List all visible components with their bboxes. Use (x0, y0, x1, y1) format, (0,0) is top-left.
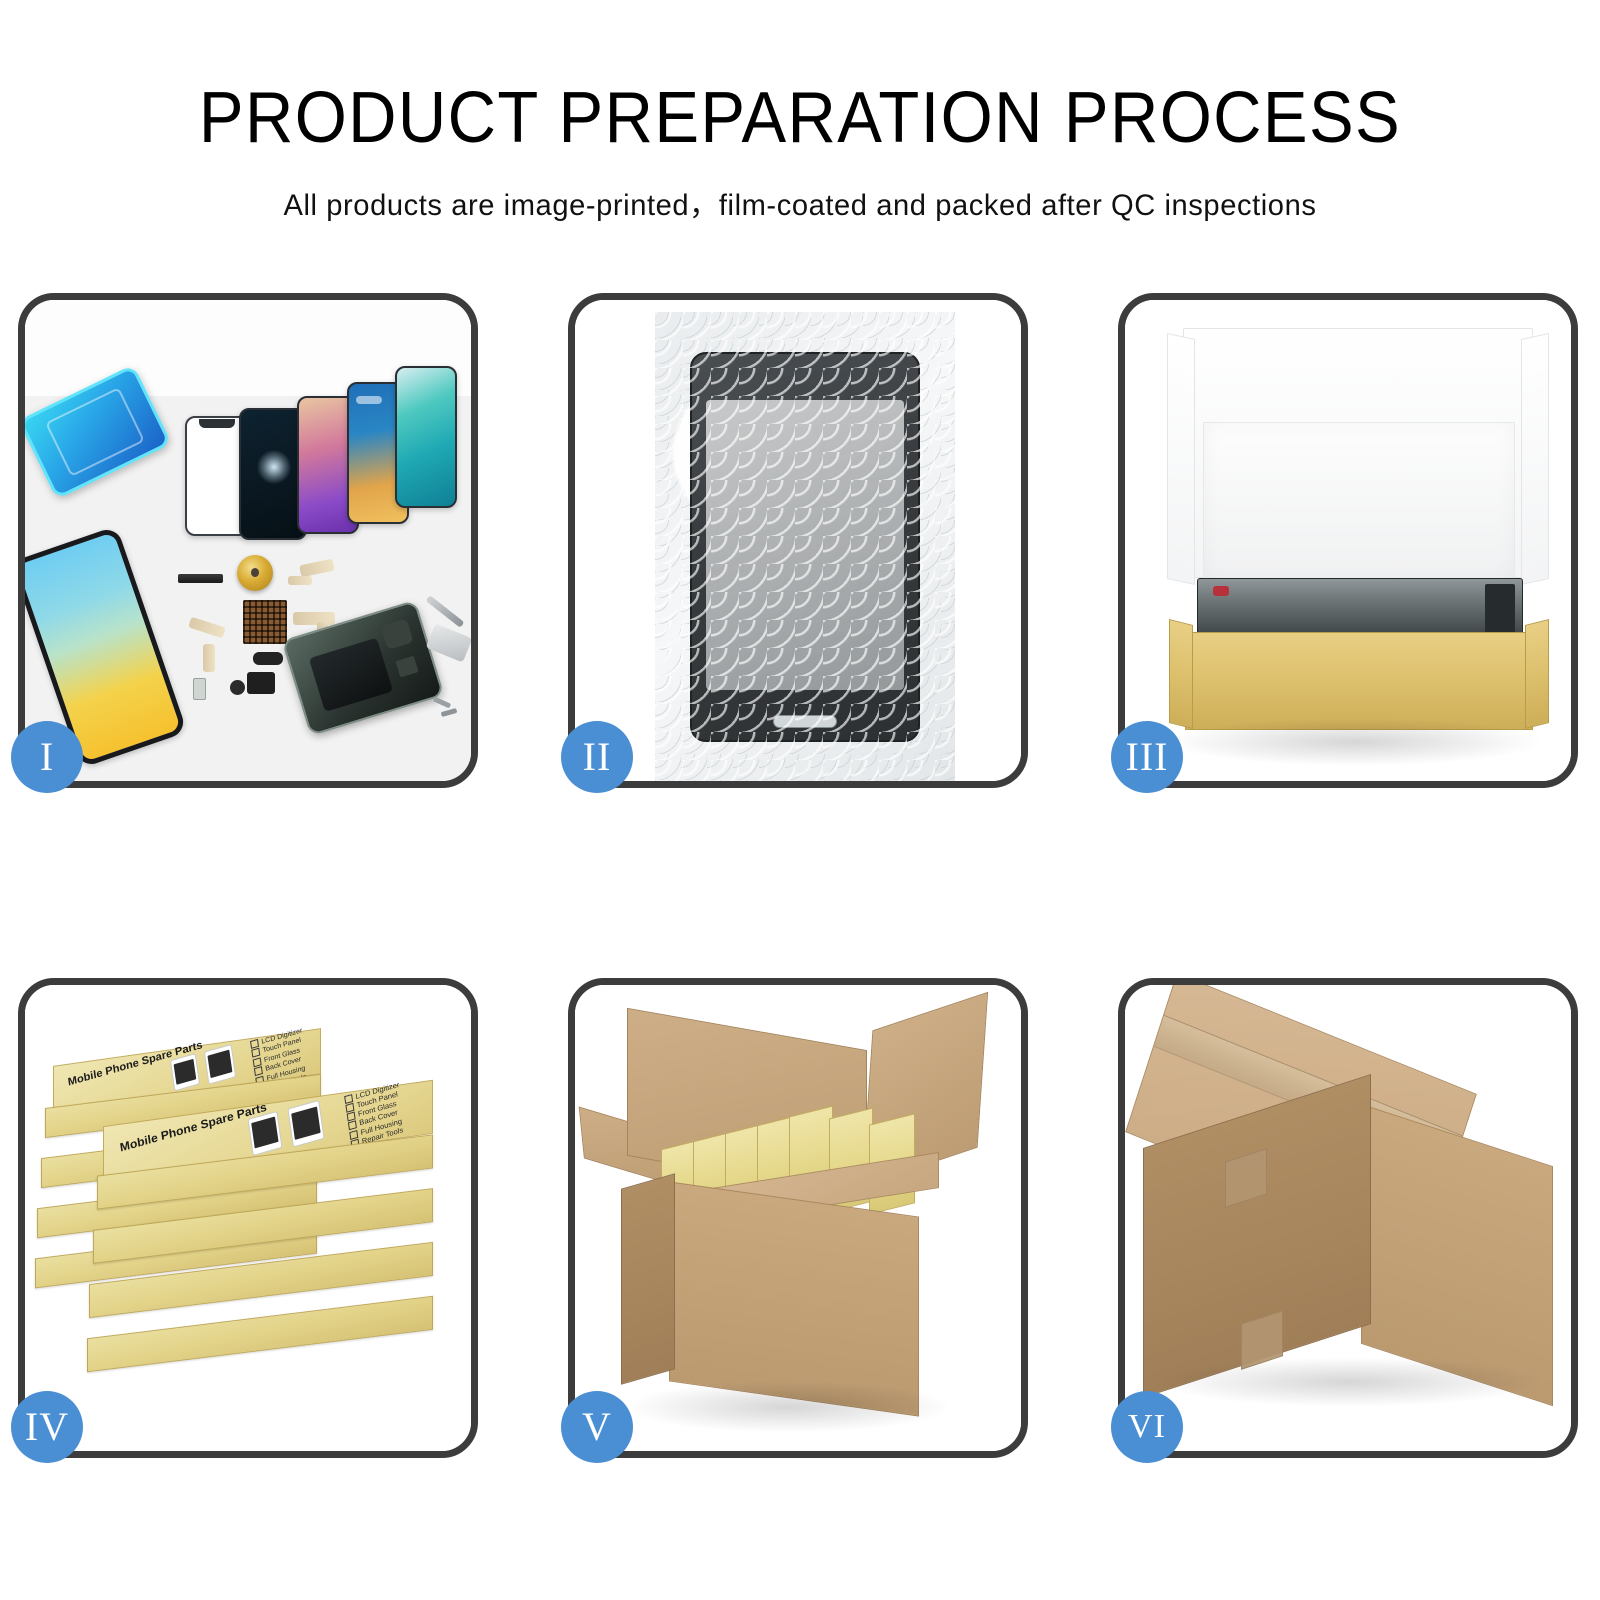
home-button-cutout (773, 715, 836, 727)
bubble-wrap-sheet (655, 312, 955, 781)
flex-cable-part-1 (299, 559, 335, 578)
screw-part-2 (441, 708, 458, 717)
wireless-charging-coil (237, 555, 273, 591)
camera-module-part (230, 680, 245, 695)
punch-hole-camera (356, 396, 382, 404)
page-title: PRODUCT PREPARATION PROCESS (56, 0, 1544, 154)
step-card-2: II (568, 293, 1028, 788)
sealed-carton-photo (1125, 985, 1571, 1451)
box-lid-right-flap (1521, 333, 1549, 585)
box-mini-phone-back-1 (170, 1053, 200, 1091)
flex-cable-part-3 (188, 617, 226, 639)
step-card-3: III (1118, 293, 1578, 788)
step-photo-6 (1125, 985, 1571, 1451)
step-card-1: I (18, 293, 478, 788)
adhesive-seal (25, 364, 172, 499)
box-label-text-front: Mobile Phone Spare Parts (119, 1100, 268, 1155)
step-badge-6: VI (1111, 1391, 1183, 1463)
box-mini-phone-front-2 (287, 1100, 324, 1148)
process-steps-grid: I II (0, 288, 1600, 1468)
step-badge-3: III (1111, 721, 1183, 793)
flex-cable-part-4 (203, 644, 215, 672)
tweezers-tool (426, 595, 465, 628)
small-module-1 (253, 652, 283, 665)
red-connector-tab (1213, 586, 1229, 596)
metal-bracket-part (178, 574, 223, 583)
parts-overview-photo (25, 300, 471, 781)
page-subtitle: All products are image-printed，film-coat… (24, 154, 1576, 224)
box-lid-left-flap (1167, 333, 1195, 585)
digitizer-glass (706, 400, 905, 690)
gold-box-base (1185, 632, 1533, 730)
ic-chip-part (243, 600, 287, 644)
wrapped-digitizer (690, 352, 920, 742)
flex-cable-part-5 (293, 612, 335, 625)
gold-box-right-wall (1525, 619, 1549, 729)
step-photo-2 (575, 300, 1021, 781)
page-header: PRODUCT PREPARATION PROCESS All products… (0, 0, 1600, 224)
box-mini-phone-back-2 (204, 1044, 236, 1085)
screw-part-1 (433, 697, 451, 709)
stacked-retail-boxes-photo: Mobile Phone Spare Parts LCD DigitizerTo… (25, 985, 471, 1451)
step-card-5: V (568, 978, 1028, 1458)
bubble-wrap-photo (575, 300, 1021, 781)
carton-shadow (623, 1381, 953, 1433)
foam-insert (1203, 422, 1515, 582)
screen-flex-end (1485, 584, 1515, 636)
flex-cable-part-2 (288, 576, 312, 585)
step-badge-2: II (561, 721, 633, 793)
step-badge-5: V (561, 1391, 633, 1463)
step-photo-1 (25, 300, 471, 781)
box-shadow (1165, 718, 1545, 766)
box-mini-phone-front-1 (248, 1111, 283, 1156)
sealed-carton-shadow (1155, 1357, 1545, 1407)
step-card-6: VI (1118, 978, 1578, 1458)
speaker-module-part (247, 672, 275, 694)
gold-box-left-wall (1169, 619, 1193, 729)
step-badge-1: I (11, 721, 83, 793)
step-photo-3 (1125, 300, 1571, 781)
box-stack-front: Mobile Phone Spare Parts LCD DigitizerTo… (87, 1103, 447, 1443)
step-photo-5 (575, 985, 1021, 1451)
wrapped-screen-in-box (1197, 578, 1523, 640)
crack-burst (257, 450, 291, 484)
step-badge-4: IV (11, 1391, 83, 1463)
boxed-with-foam-photo (1125, 300, 1571, 781)
sim-tray-part (193, 678, 206, 700)
notch-glass (199, 419, 235, 428)
step-card-4: Mobile Phone Spare Parts LCD DigitizerTo… (18, 978, 478, 1458)
carton-left-face (621, 1173, 675, 1384)
step-photo-4: Mobile Phone Spare Parts LCD DigitizerTo… (25, 985, 471, 1451)
carton-filling-photo (575, 985, 1021, 1451)
teal-display-panel (395, 366, 457, 508)
